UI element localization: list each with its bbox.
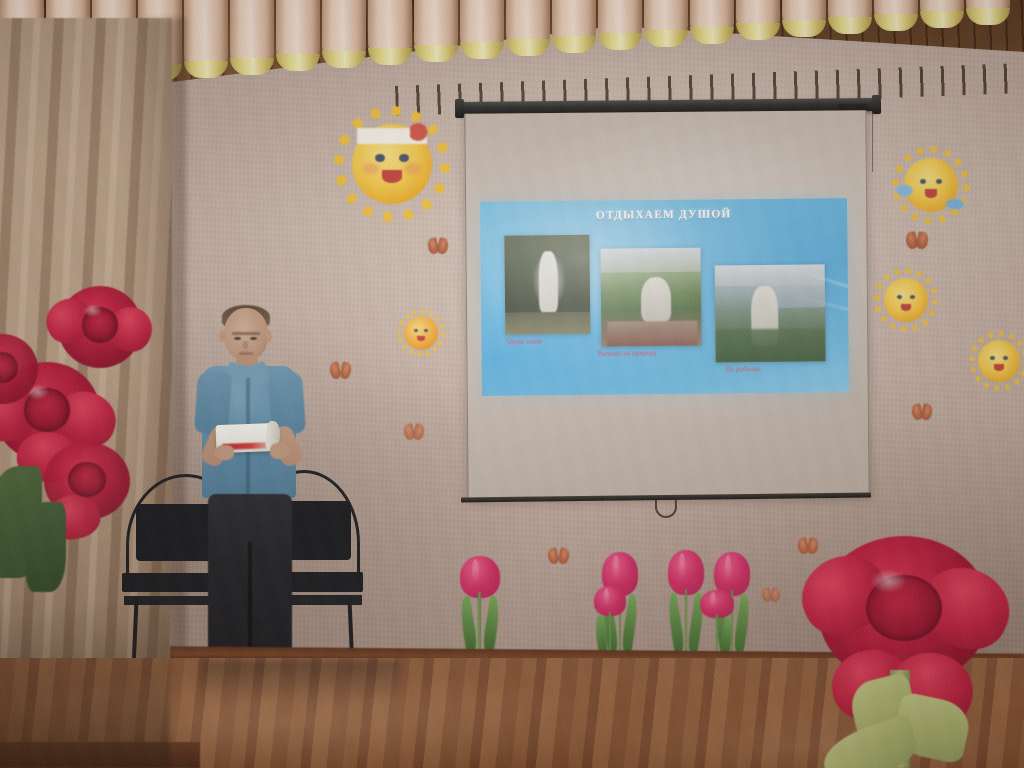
valance-tube (828, 0, 872, 34)
sun-eye-left (375, 154, 385, 162)
butterfly-icon (404, 424, 424, 440)
mouth (239, 352, 253, 355)
picnic-cloth (607, 320, 697, 346)
screen-bracket (838, 104, 868, 110)
slide-photo-left (504, 235, 590, 335)
rose-core (0, 352, 18, 383)
tulip-stem (478, 592, 481, 653)
sun-with-flower-crown (352, 124, 432, 204)
sun-mouth (417, 336, 425, 341)
tulip-stem (685, 589, 688, 654)
valance-tube (414, 0, 458, 62)
sun-mouth (901, 304, 912, 311)
tulip-stem (609, 612, 611, 656)
tulip-leaf (719, 616, 735, 654)
ground (505, 312, 590, 335)
sun-eye-right (1003, 356, 1008, 360)
paper-rose (58, 286, 142, 368)
valance-tube (874, 0, 918, 31)
slide-photo-right (715, 264, 826, 362)
presenter-reflection (200, 660, 400, 704)
nose (243, 341, 248, 349)
sky (600, 248, 700, 273)
sun-eye-right (936, 179, 942, 184)
slide-caption-right: На рыбалке (726, 365, 761, 373)
highlight (870, 569, 908, 593)
sun-cheek-right (405, 163, 421, 174)
tulip-leaf (458, 596, 479, 653)
slide-title: ОТДЫХАЕМ ДУШОЙ (480, 207, 847, 223)
blue-wing-left (895, 184, 913, 197)
valance-tube (644, 0, 688, 47)
butterfly-icon (906, 232, 928, 249)
slide-caption-left: Труды наши (505, 337, 542, 345)
butterfly-icon (762, 588, 780, 602)
sun-eye-right (424, 329, 428, 332)
rose-bouquet-left (0, 286, 160, 586)
sun-plain-lower (978, 340, 1020, 382)
valance-tube (782, 0, 826, 37)
projected-slide: ОТДЫХАЕМ ДУШОЙ Труды наши Выходы на прир… (480, 198, 849, 396)
brow (232, 332, 260, 335)
red-bird (410, 121, 431, 143)
sun-with-blue-wings (904, 158, 958, 212)
butterfly-icon (428, 238, 448, 254)
valance-tube (276, 0, 320, 71)
tulip-leaf (733, 594, 753, 653)
figure (539, 251, 558, 313)
slide-caption-center: Выходы на природу (598, 349, 657, 358)
paper-rose (818, 536, 990, 686)
eye (250, 337, 257, 340)
valance-tube (230, 0, 274, 75)
sun-mouth (994, 364, 1004, 371)
valance-tube (506, 0, 550, 56)
tulip-decal (460, 556, 500, 652)
valance-tube (966, 0, 1010, 25)
valance-tube (598, 0, 642, 50)
ear (265, 330, 272, 342)
tulip-leaf (666, 592, 686, 652)
screen-cord[interactable] (872, 112, 873, 172)
valance-tube (920, 0, 964, 28)
butterfly-icon (548, 548, 569, 564)
blue-wing-right (944, 198, 966, 210)
butterfly-icon (912, 404, 932, 420)
figure (641, 277, 671, 322)
highlight (83, 304, 101, 317)
sun-eye-left (414, 329, 418, 332)
sun-eye-left (920, 179, 926, 184)
sun-small-left (404, 316, 438, 350)
hand (270, 443, 290, 459)
valance-tube (368, 0, 412, 65)
trousers (208, 494, 292, 664)
sun-eye-left (990, 356, 995, 360)
sun-eye-left (897, 295, 902, 299)
valance-tube (736, 0, 780, 40)
tulip-decal (668, 550, 704, 652)
tulip-leaf (593, 614, 609, 654)
valance-tube (690, 0, 734, 44)
hand (214, 445, 234, 460)
valance-tube (552, 0, 596, 53)
slide-photo-center (600, 248, 701, 347)
rose-leaf (26, 502, 66, 592)
curtain-hem-shadow (0, 600, 170, 768)
eye (234, 337, 241, 340)
tulip-stem (716, 614, 718, 655)
sun-cheek-left (363, 163, 379, 174)
sun-eye-right (399, 154, 409, 162)
presenter (186, 308, 316, 696)
rose-core (68, 462, 106, 496)
tulip-decal (700, 590, 734, 654)
valance-tube (184, 0, 228, 78)
sun-mouth (925, 189, 938, 198)
sun-plain-upper (884, 278, 928, 322)
valance-tube (322, 0, 366, 68)
sun-eye-right (910, 295, 915, 299)
sun-mouth (382, 170, 401, 183)
rose-bottom-right (812, 528, 1012, 768)
ear (219, 330, 226, 342)
photograph-assembly-hall: ОТДЫХАЕМ ДУШОЙ Труды наши Выходы на прир… (0, 0, 1024, 768)
bushes (715, 328, 825, 362)
tulip-leaf (481, 596, 502, 653)
sky (715, 264, 825, 286)
butterfly-icon (330, 362, 351, 379)
valance-tube (460, 0, 504, 59)
tulip-decal (594, 586, 626, 654)
